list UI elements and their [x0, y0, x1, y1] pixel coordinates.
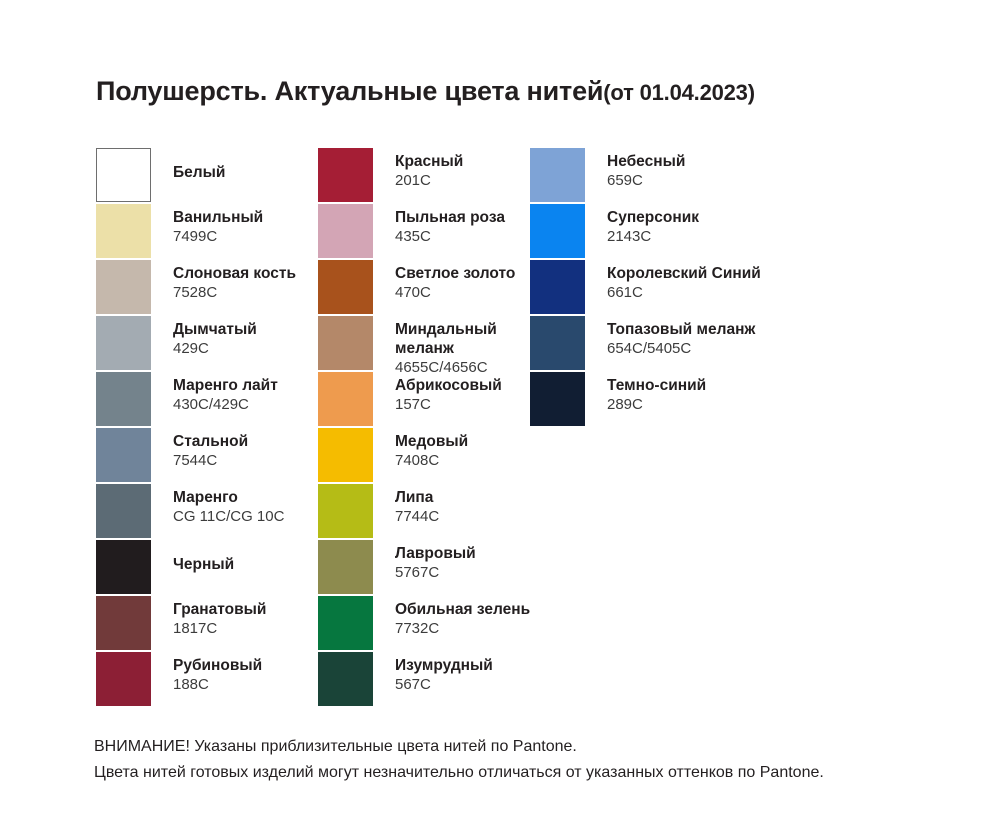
- column-1: БелыйВанильный7499CСлоновая кость7528CДы…: [96, 148, 318, 708]
- color-labels: МаренгоCG 11C/CG 10C: [151, 484, 284, 526]
- color-swatch: [96, 540, 151, 594]
- color-row: Королевский Синий661C: [530, 260, 790, 314]
- color-name: Маренго: [173, 488, 284, 507]
- color-swatch: [530, 204, 585, 258]
- color-row: Абрикосовый157C: [318, 372, 530, 426]
- color-name: Темно-синий: [607, 376, 706, 395]
- color-code: CG 11C/CG 10C: [173, 507, 284, 526]
- color-code: 435C: [395, 227, 505, 246]
- page-title-date: (от 01.04.2023): [603, 80, 755, 105]
- color-row: Ванильный7499C: [96, 204, 318, 258]
- color-swatch: [318, 204, 373, 258]
- color-swatch: [530, 148, 585, 202]
- color-name: Светлое золото: [395, 264, 515, 283]
- color-name: Топазовый меланж: [607, 320, 755, 339]
- color-swatch: [318, 540, 373, 594]
- color-code: 2143C: [607, 227, 699, 246]
- color-row: Изумрудный567C: [318, 652, 530, 706]
- color-row: МаренгоCG 11C/CG 10C: [96, 484, 318, 538]
- color-row: Липа7744C: [318, 484, 530, 538]
- color-code: 5767C: [395, 563, 476, 582]
- color-code: 188C: [173, 675, 262, 694]
- color-row: Светлое золото470C: [318, 260, 530, 314]
- color-code: 659C: [607, 171, 685, 190]
- swatch-columns: БелыйВанильный7499CСлоновая кость7528CДы…: [96, 148, 936, 708]
- color-labels: Изумрудный567C: [373, 652, 493, 694]
- color-labels: Абрикосовый157C: [373, 372, 502, 414]
- color-name: Пыльная роза: [395, 208, 505, 227]
- color-labels: Пыльная роза435C: [373, 204, 505, 246]
- color-row: Стальной7544C: [96, 428, 318, 482]
- color-name: Дымчатый: [173, 320, 257, 339]
- color-labels: Слоновая кость7528C: [151, 260, 296, 302]
- color-row: Медовый7408C: [318, 428, 530, 482]
- column-3: Небесный659CСуперсоник2143CКоролевский С…: [530, 148, 790, 708]
- color-name: Красный: [395, 152, 463, 171]
- color-swatch: [318, 652, 373, 706]
- color-code: 201C: [395, 171, 463, 190]
- color-swatch: [530, 372, 585, 426]
- color-swatch: [318, 428, 373, 482]
- color-labels: Белый: [151, 148, 225, 182]
- color-code: 7528C: [173, 283, 296, 302]
- color-name: Абрикосовый: [395, 376, 502, 395]
- color-name: Белый: [173, 163, 225, 182]
- color-row: Белый: [96, 148, 318, 202]
- color-row: Рубиновый188C: [96, 652, 318, 706]
- color-labels: Темно-синий289C: [585, 372, 706, 414]
- color-labels: Небесный659C: [585, 148, 685, 190]
- color-code: 157C: [395, 395, 502, 414]
- color-row: Слоновая кость7528C: [96, 260, 318, 314]
- color-code: 1817C: [173, 619, 266, 638]
- color-swatch: [318, 372, 373, 426]
- color-name: Стальной: [173, 432, 248, 451]
- color-name: Ванильный: [173, 208, 263, 227]
- color-labels: Черный: [151, 540, 234, 574]
- color-swatch: [96, 204, 151, 258]
- color-swatch: [96, 148, 151, 202]
- color-labels: Красный201C: [373, 148, 463, 190]
- color-labels: Дымчатый429C: [151, 316, 257, 358]
- color-labels: Топазовый меланж654C/5405C: [585, 316, 755, 358]
- color-code: 7744C: [395, 507, 439, 526]
- color-chart-page: Полушерсть. Актуальные цвета нитей(от 01…: [0, 0, 1000, 840]
- page-title: Полушерсть. Актуальные цвета нитей(от 01…: [96, 76, 755, 107]
- color-code: 430C/429C: [173, 395, 278, 414]
- color-name: Обильная зелень: [395, 600, 530, 619]
- color-labels: Стальной7544C: [151, 428, 248, 470]
- color-row: Гранатовый1817C: [96, 596, 318, 650]
- color-row: Красный201C: [318, 148, 530, 202]
- color-labels: Медовый7408C: [373, 428, 468, 470]
- color-labels: Обильная зелень7732C: [373, 596, 530, 638]
- color-row: Суперсоник2143C: [530, 204, 790, 258]
- color-code: 7544C: [173, 451, 248, 470]
- color-swatch: [318, 148, 373, 202]
- color-swatch: [96, 428, 151, 482]
- color-swatch: [530, 260, 585, 314]
- color-row: Темно-синий289C: [530, 372, 790, 426]
- color-row: Черный: [96, 540, 318, 594]
- footer-note: ВНИМАНИЕ! Указаны приблизительные цвета …: [94, 734, 954, 786]
- color-code: 7408C: [395, 451, 468, 470]
- color-name: Рубиновый: [173, 656, 262, 675]
- color-row: Дымчатый429C: [96, 316, 318, 370]
- color-code: 654C/5405C: [607, 339, 755, 358]
- color-row: Обильная зелень7732C: [318, 596, 530, 650]
- color-row: Лавровый5767C: [318, 540, 530, 594]
- color-labels: Рубиновый188C: [151, 652, 262, 694]
- color-name: Суперсоник: [607, 208, 699, 227]
- color-code: 429C: [173, 339, 257, 358]
- color-labels: Маренго лайт430C/429C: [151, 372, 278, 414]
- color-labels: Липа7744C: [373, 484, 439, 526]
- color-name: Маренго лайт: [173, 376, 278, 395]
- color-swatch: [530, 316, 585, 370]
- color-labels: Суперсоник2143C: [585, 204, 699, 246]
- color-row: Пыльная роза435C: [318, 204, 530, 258]
- color-code: 567C: [395, 675, 493, 694]
- color-code: 7732C: [395, 619, 530, 638]
- color-swatch: [96, 596, 151, 650]
- color-swatch: [96, 652, 151, 706]
- color-name: Лавровый: [395, 544, 476, 563]
- footer-line-1: ВНИМАНИЕ! Указаны приблизительные цвета …: [94, 734, 954, 760]
- page-title-main: Полушерсть. Актуальные цвета нитей: [96, 76, 603, 106]
- color-swatch: [96, 484, 151, 538]
- color-code: 289C: [607, 395, 706, 414]
- color-code: 470C: [395, 283, 515, 302]
- color-row: Топазовый меланж654C/5405C: [530, 316, 790, 370]
- color-code: 661C: [607, 283, 761, 302]
- color-swatch: [318, 316, 373, 370]
- color-row: Миндальный меланж4655C/4656C: [318, 316, 530, 370]
- column-2: Красный201CПыльная роза435CСветлое золот…: [318, 148, 530, 708]
- color-name: Гранатовый: [173, 600, 266, 619]
- color-name: Королевский Синий: [607, 264, 761, 283]
- color-labels: Лавровый5767C: [373, 540, 476, 582]
- color-swatch: [318, 260, 373, 314]
- color-name: Слоновая кость: [173, 264, 296, 283]
- color-swatch: [96, 372, 151, 426]
- color-labels: Светлое золото470C: [373, 260, 515, 302]
- color-name: Черный: [173, 555, 234, 574]
- color-swatch: [96, 260, 151, 314]
- color-name: Медовый: [395, 432, 468, 451]
- color-name: Липа: [395, 488, 439, 507]
- color-labels: Королевский Синий661C: [585, 260, 761, 302]
- color-code: 7499C: [173, 227, 263, 246]
- color-row: Маренго лайт430C/429C: [96, 372, 318, 426]
- color-labels: Гранатовый1817C: [151, 596, 266, 638]
- color-name: Небесный: [607, 152, 685, 171]
- color-row: Небесный659C: [530, 148, 790, 202]
- color-labels: Миндальный меланж4655C/4656C: [373, 316, 525, 377]
- footer-line-2: Цвета нитей готовых изделий могут незнач…: [94, 760, 954, 786]
- color-swatch: [318, 484, 373, 538]
- color-name: Изумрудный: [395, 656, 493, 675]
- color-swatch: [318, 596, 373, 650]
- color-name: Миндальный меланж: [395, 320, 525, 358]
- color-swatch: [96, 316, 151, 370]
- color-labels: Ванильный7499C: [151, 204, 263, 246]
